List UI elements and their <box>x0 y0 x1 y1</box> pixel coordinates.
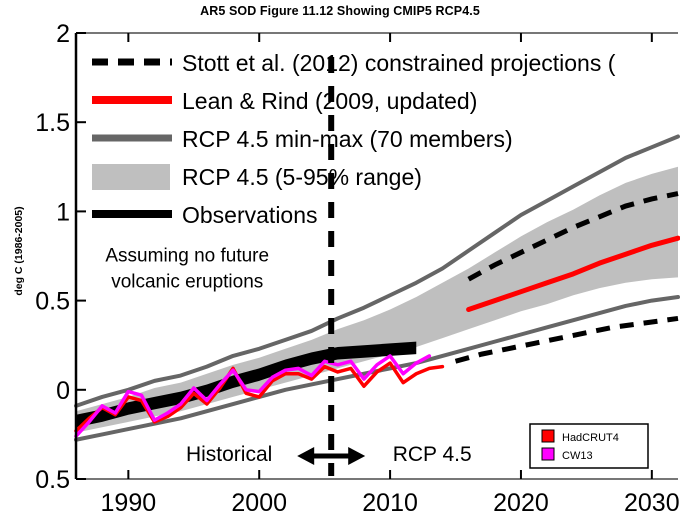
inset-legend-label: CW13 <box>562 450 593 462</box>
historical-label: Historical <box>186 443 272 466</box>
rcp-label: RCP 4.5 <box>393 443 472 466</box>
x-tick-label: 2000 <box>231 489 287 517</box>
y-tick-label: 0.5 <box>35 288 70 316</box>
legend-label: RCP 4.5 min-max (70 members) <box>182 126 513 152</box>
series-stott-constrained-projection <box>456 318 678 361</box>
no-volcano-note-line: volcanic eruptions <box>111 271 263 292</box>
x-tick-label: 2030 <box>624 489 680 517</box>
x-tick-label: 1990 <box>101 489 157 517</box>
figure-container: AR5 SOD Figure 11.12 Showing CMIP5 RCP4.… <box>0 0 680 520</box>
no-volcano-note-line: Assuming no future <box>105 245 269 266</box>
inset-legend-label: HadCRUT4 <box>562 432 619 444</box>
legend-item[interactable]: Stott et al. (2012) constrained projecti… <box>92 50 616 76</box>
inset-legend-item[interactable]: HadCRUT4 <box>542 430 619 444</box>
legend-item[interactable]: Lean & Rind (2009, updated) <box>92 88 477 114</box>
legend-item[interactable]: Observations <box>92 202 318 228</box>
y-tick-label: 1.5 <box>35 109 70 137</box>
y-tick-label: 0.5 <box>35 466 70 494</box>
x-tick-label: 2010 <box>362 489 418 517</box>
legend-label: Lean & Rind (2009, updated) <box>182 88 477 114</box>
y-tick-label: 0 <box>56 377 70 405</box>
y-tick-label: 2 <box>56 20 70 48</box>
chart-plot-area: 199020002010202020300.500.511.52 Assumin… <box>0 0 680 520</box>
legend: Stott et al. (2012) constrained projecti… <box>92 50 616 228</box>
inset-legend: HadCRUT4CW13 <box>530 424 648 468</box>
legend-label: RCP 4.5 (5-95% range) <box>182 164 422 190</box>
legend-label: Stott et al. (2012) constrained projecti… <box>182 50 616 76</box>
inset-legend-swatch <box>542 430 554 442</box>
legend-label: Observations <box>182 202 318 228</box>
legend-swatch-box <box>92 164 170 190</box>
y-tick-label: 1 <box>56 198 70 226</box>
inset-legend-item[interactable]: CW13 <box>542 448 593 462</box>
x-tick-label: 2020 <box>493 489 549 517</box>
inset-legend-swatch <box>542 448 554 460</box>
legend-item[interactable]: RCP 4.5 (5-95% range) <box>92 164 422 190</box>
legend-item[interactable]: RCP 4.5 min-max (70 members) <box>92 126 513 152</box>
